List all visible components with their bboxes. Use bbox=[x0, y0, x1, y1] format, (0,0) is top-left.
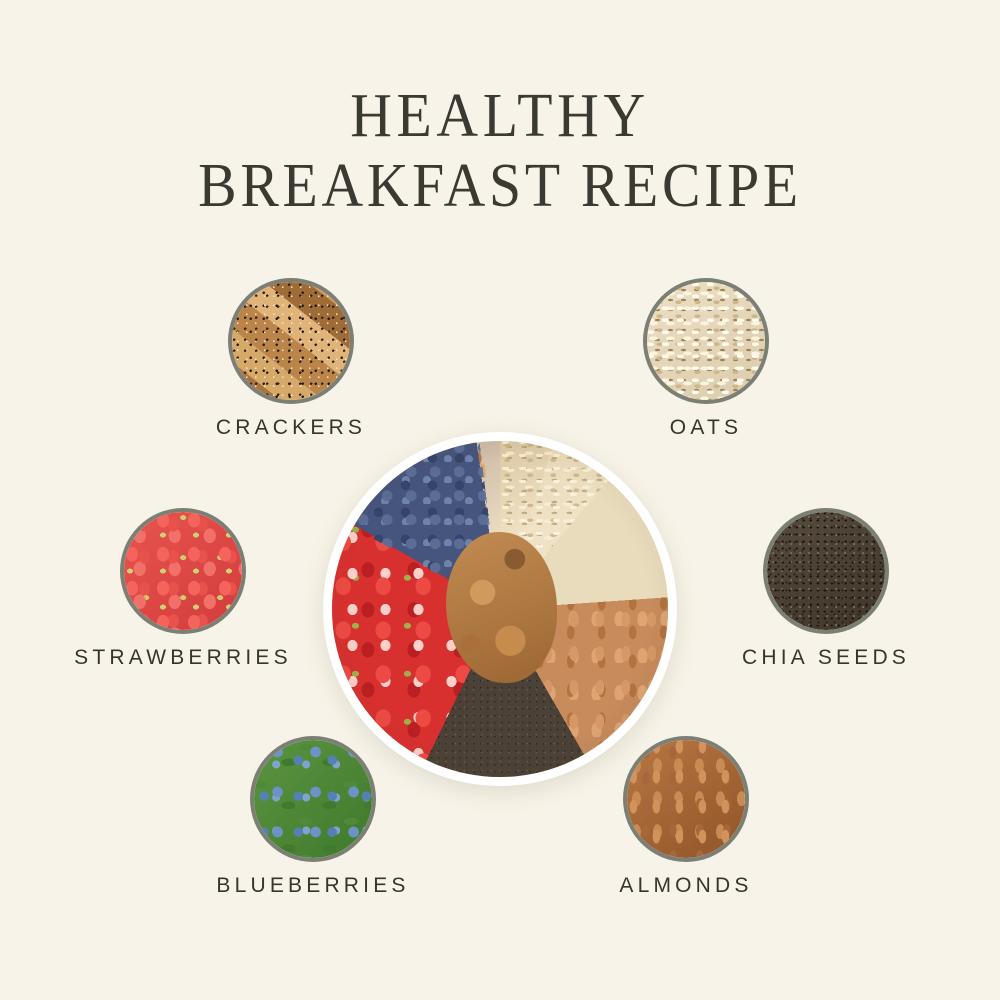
crackers-thumbnail[interactable] bbox=[232, 282, 350, 400]
item-chia-seeds[interactable]: CHIA SEEDS bbox=[767, 512, 885, 630]
strawberries-icon bbox=[124, 512, 242, 630]
item-crackers[interactable]: CRACKERS bbox=[232, 282, 350, 400]
item-label-chia-seeds: CHIA SEEDS bbox=[742, 646, 910, 670]
item-blueberries[interactable]: BLUEBERRIES bbox=[254, 740, 372, 858]
title-line-2: BREAKFAST RECIPE bbox=[35, 154, 965, 218]
item-label-strawberries: STRAWBERRIES bbox=[74, 646, 292, 670]
bowl-contents bbox=[332, 441, 668, 777]
breakfast-bowl bbox=[323, 432, 677, 786]
oats-thumbnail[interactable] bbox=[647, 282, 765, 400]
item-strawberries[interactable]: STRAWBERRIES bbox=[124, 512, 242, 630]
title-line-1: HEALTHY bbox=[35, 84, 965, 148]
crackers-icon bbox=[232, 282, 350, 400]
item-label-oats: OATS bbox=[670, 416, 742, 440]
item-almonds[interactable]: ALMONDS bbox=[627, 740, 745, 858]
page-title: HEALTHY BREAKFAST RECIPE bbox=[0, 84, 1000, 219]
item-label-blueberries: BLUEBERRIES bbox=[216, 874, 409, 898]
poster-canvas: HEALTHY BREAKFAST RECIPE bbox=[0, 0, 1000, 1000]
item-label-crackers: CRACKERS bbox=[216, 416, 366, 440]
oats-icon bbox=[647, 282, 765, 400]
item-label-almonds: ALMONDS bbox=[619, 874, 752, 898]
blueberries-icon bbox=[254, 740, 372, 858]
almonds-thumbnail[interactable] bbox=[627, 740, 745, 858]
almonds-icon bbox=[627, 740, 745, 858]
chia-seeds-thumbnail[interactable] bbox=[767, 512, 885, 630]
chia-seeds-icon bbox=[767, 512, 885, 630]
item-oats[interactable]: OATS bbox=[647, 282, 765, 400]
bowl-shading bbox=[332, 441, 668, 777]
strawberries-thumbnail[interactable] bbox=[124, 512, 242, 630]
blueberries-thumbnail[interactable] bbox=[254, 740, 372, 858]
